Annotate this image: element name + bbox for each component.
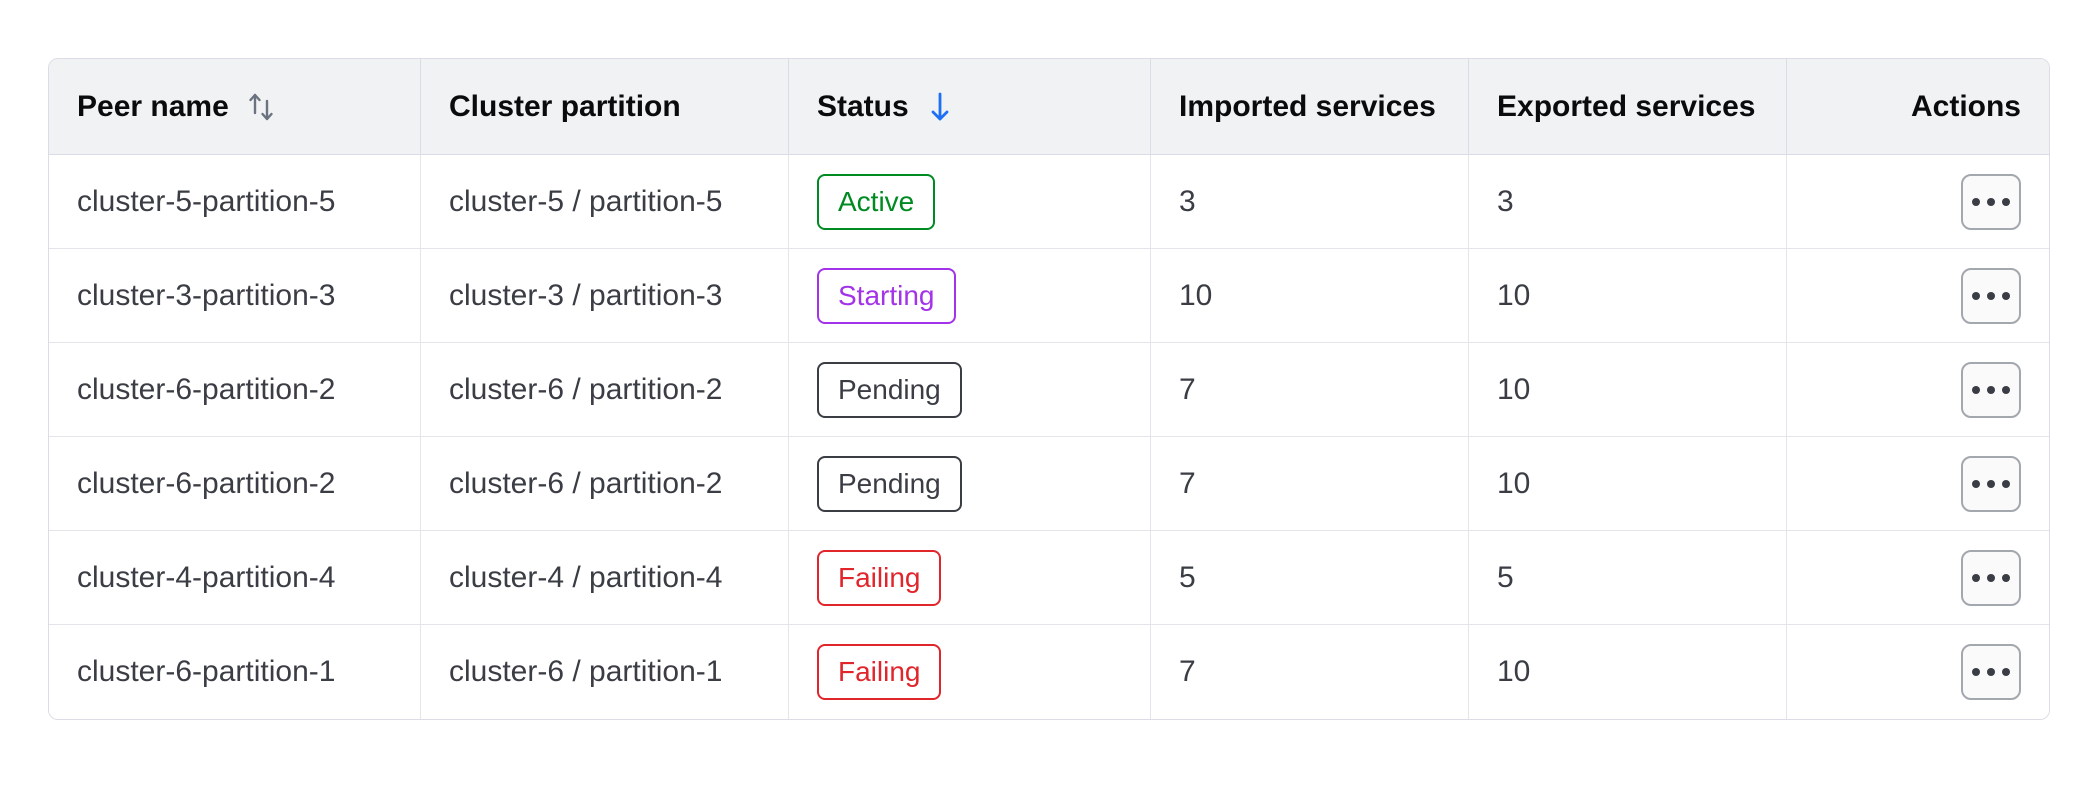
kebab-horizontal-icon [1987, 386, 1995, 394]
cell-imported-services: 7 [1151, 343, 1469, 437]
cell-imported-services: 10 [1151, 249, 1469, 343]
imported-services-value: 3 [1179, 185, 1196, 218]
exported-services-value: 10 [1497, 467, 1530, 500]
cluster-partition-text: cluster-6 / partition-2 [449, 467, 722, 500]
cell-actions [1787, 249, 2049, 343]
kebab-horizontal-icon [1987, 574, 1995, 582]
page-container: Peer name Cluster parti [0, 0, 2096, 720]
row-actions-button[interactable] [1961, 174, 2021, 230]
cell-peer-name: cluster-6-partition-2 [49, 343, 421, 437]
cell-imported-services: 7 [1151, 437, 1469, 531]
kebab-horizontal-icon [2002, 668, 2010, 676]
cluster-partition-text: cluster-6 / partition-2 [449, 373, 722, 406]
kebab-horizontal-icon [1972, 668, 1980, 676]
peer-name-text: cluster-3-partition-3 [77, 279, 335, 312]
kebab-horizontal-icon [1972, 480, 1980, 488]
cell-status: Pending [789, 437, 1151, 531]
row-actions-button[interactable] [1961, 456, 2021, 512]
table-row: cluster-5-partition-5 cluster-5 / partit… [49, 155, 2049, 249]
table-row: cluster-6-partition-2 cluster-6 / partit… [49, 343, 2049, 437]
cell-peer-name: cluster-3-partition-3 [49, 249, 421, 343]
row-actions-button[interactable] [1961, 550, 2021, 606]
column-header-label-exported-services: Exported services [1497, 90, 1755, 124]
kebab-horizontal-icon [2002, 198, 2010, 206]
cell-status: Starting [789, 249, 1151, 343]
column-header-label-imported-services: Imported services [1179, 90, 1436, 124]
status-badge: Active [817, 174, 935, 230]
cell-peer-name: cluster-6-partition-1 [49, 625, 421, 719]
cell-status: Active [789, 155, 1151, 249]
column-header-status[interactable]: Status [789, 59, 1151, 155]
cluster-partition-text: cluster-3 / partition-3 [449, 279, 722, 312]
cell-cluster-partition: cluster-4 / partition-4 [421, 531, 789, 625]
cell-actions [1787, 531, 2049, 625]
table-row: cluster-3-partition-3 cluster-3 / partit… [49, 249, 2049, 343]
column-header-label-status: Status [817, 90, 909, 124]
cell-exported-services: 10 [1469, 437, 1787, 531]
table-row: cluster-4-partition-4 cluster-4 / partit… [49, 531, 2049, 625]
kebab-horizontal-icon [1972, 198, 1980, 206]
kebab-horizontal-icon [1972, 386, 1980, 394]
exported-services-value: 10 [1497, 373, 1530, 406]
row-actions-button[interactable] [1961, 644, 2021, 700]
kebab-horizontal-icon [1972, 574, 1980, 582]
cell-status: Failing [789, 625, 1151, 719]
cell-actions [1787, 343, 2049, 437]
kebab-horizontal-icon [1987, 668, 1995, 676]
peer-name-text: cluster-6-partition-2 [77, 373, 335, 406]
cell-actions [1787, 437, 2049, 531]
kebab-horizontal-icon [2002, 480, 2010, 488]
imported-services-value: 7 [1179, 467, 1196, 500]
row-actions-button[interactable] [1961, 268, 2021, 324]
cell-exported-services: 10 [1469, 625, 1787, 719]
column-header-label-actions: Actions [1911, 90, 2021, 124]
cell-status: Pending [789, 343, 1151, 437]
imported-services-value: 5 [1179, 561, 1196, 594]
kebab-horizontal-icon [2002, 574, 2010, 582]
exported-services-value: 10 [1497, 279, 1530, 312]
column-header-imported-services[interactable]: Imported services [1151, 59, 1469, 155]
imported-services-value: 7 [1179, 373, 1196, 406]
kebab-horizontal-icon [2002, 292, 2010, 300]
cell-exported-services: 5 [1469, 531, 1787, 625]
kebab-horizontal-icon [1972, 292, 1980, 300]
peer-name-text: cluster-4-partition-4 [77, 561, 335, 594]
table-header-row: Peer name Cluster parti [49, 59, 2049, 155]
cell-actions [1787, 625, 2049, 719]
table-row: cluster-6-partition-1 cluster-6 / partit… [49, 625, 2049, 719]
cell-cluster-partition: cluster-6 / partition-2 [421, 437, 789, 531]
cell-peer-name: cluster-4-partition-4 [49, 531, 421, 625]
peer-name-text: cluster-5-partition-5 [77, 185, 335, 218]
exported-services-value: 10 [1497, 655, 1530, 688]
cell-peer-name: cluster-6-partition-2 [49, 437, 421, 531]
cell-peer-name: cluster-5-partition-5 [49, 155, 421, 249]
peers-table: Peer name Cluster parti [48, 58, 2050, 720]
cell-imported-services: 7 [1151, 625, 1469, 719]
column-header-label-peer-name: Peer name [77, 90, 229, 124]
kebab-horizontal-icon [2002, 386, 2010, 394]
cluster-partition-text: cluster-5 / partition-5 [449, 185, 722, 218]
cell-imported-services: 3 [1151, 155, 1469, 249]
kebab-horizontal-icon [1987, 292, 1995, 300]
status-badge: Pending [817, 456, 962, 512]
column-header-cluster-partition[interactable]: Cluster partition [421, 59, 789, 155]
cell-actions [1787, 155, 2049, 249]
cell-cluster-partition: cluster-3 / partition-3 [421, 249, 789, 343]
imported-services-value: 10 [1179, 279, 1212, 312]
imported-services-value: 7 [1179, 655, 1196, 688]
cell-exported-services: 10 [1469, 343, 1787, 437]
table-row: cluster-6-partition-2 cluster-6 / partit… [49, 437, 2049, 531]
exported-services-value: 5 [1497, 561, 1514, 594]
cluster-partition-text: cluster-4 / partition-4 [449, 561, 722, 594]
cell-cluster-partition: cluster-6 / partition-1 [421, 625, 789, 719]
cell-imported-services: 5 [1151, 531, 1469, 625]
kebab-horizontal-icon [1987, 198, 1995, 206]
table-body: cluster-5-partition-5 cluster-5 / partit… [49, 155, 2049, 719]
column-header-exported-services[interactable]: Exported services [1469, 59, 1787, 155]
sort-ascending-descending-icon[interactable] [247, 90, 277, 124]
table-header: Peer name Cluster parti [49, 59, 2049, 155]
peer-name-text: cluster-6-partition-2 [77, 467, 335, 500]
column-header-peer-name[interactable]: Peer name [49, 59, 421, 155]
status-badge: Failing [817, 644, 941, 700]
status-badge: Pending [817, 362, 962, 418]
status-badge: Failing [817, 550, 941, 606]
cell-cluster-partition: cluster-6 / partition-2 [421, 343, 789, 437]
cluster-partition-text: cluster-6 / partition-1 [449, 655, 722, 688]
peer-name-text: cluster-6-partition-1 [77, 655, 335, 688]
cell-exported-services: 3 [1469, 155, 1787, 249]
column-header-label-cluster-partition: Cluster partition [449, 90, 681, 124]
cell-cluster-partition: cluster-5 / partition-5 [421, 155, 789, 249]
exported-services-value: 3 [1497, 185, 1514, 218]
column-header-actions: Actions [1787, 59, 2049, 155]
kebab-horizontal-icon [1987, 480, 1995, 488]
status-badge: Starting [817, 268, 956, 324]
arrow-down-icon[interactable] [927, 90, 953, 124]
cell-exported-services: 10 [1469, 249, 1787, 343]
row-actions-button[interactable] [1961, 362, 2021, 418]
cell-status: Failing [789, 531, 1151, 625]
